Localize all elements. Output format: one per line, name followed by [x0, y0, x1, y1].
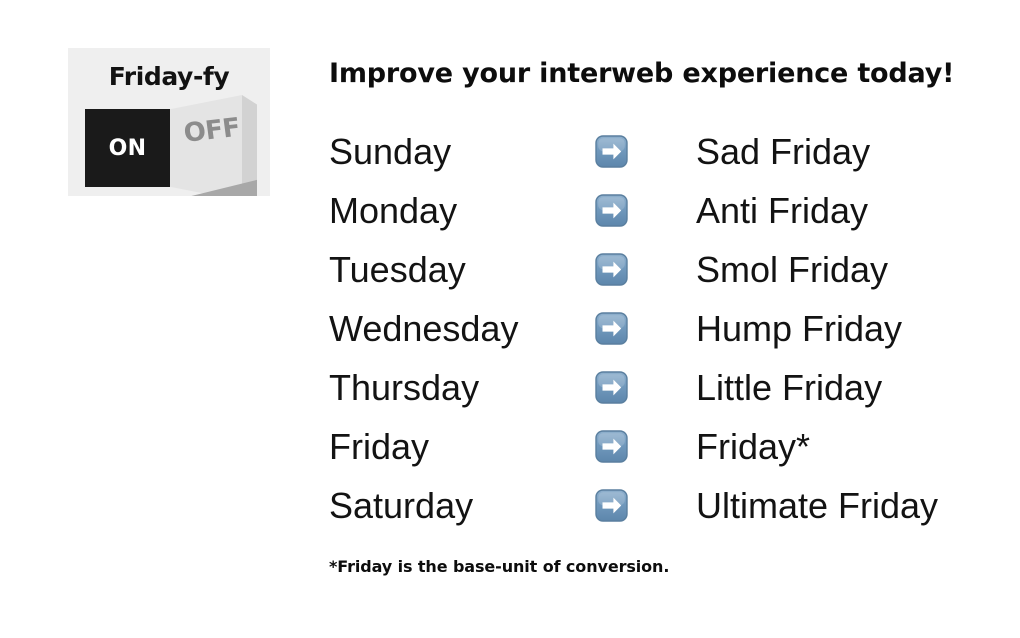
- page-headline: Improve your interweb experience today!: [329, 58, 954, 89]
- conversion-result-label: Sad Friday: [696, 122, 870, 181]
- right-arrow-icon: [595, 253, 628, 286]
- conversion-day-label: Monday: [329, 181, 457, 240]
- conversion-result-label: Anti Friday: [696, 181, 868, 240]
- right-arrow-icon: [595, 135, 628, 168]
- toggle-widget-title: Friday-fy: [68, 62, 270, 91]
- conversion-day-label: Thursday: [329, 358, 479, 417]
- conversion-day-label: Tuesday: [329, 240, 466, 299]
- right-arrow-icon: [595, 312, 628, 345]
- conversion-result-label: Hump Friday: [696, 299, 902, 358]
- conversion-day-label: Sunday: [329, 122, 451, 181]
- table-row: WednesdayHump Friday: [329, 299, 969, 358]
- footnote-text: *Friday is the base-unit of conversion.: [329, 557, 669, 576]
- table-row: ThursdayLittle Friday: [329, 358, 969, 417]
- table-row: SaturdayUltimate Friday: [329, 476, 969, 535]
- right-arrow-icon: [595, 430, 628, 463]
- table-row: TuesdaySmol Friday: [329, 240, 969, 299]
- switch-on-label: ON: [85, 109, 170, 187]
- conversion-result-label: Friday*: [696, 417, 810, 476]
- on-off-rocker-switch[interactable]: OFF ON: [85, 109, 257, 187]
- conversion-day-label: Friday: [329, 417, 429, 476]
- right-arrow-icon: [595, 371, 628, 404]
- right-arrow-icon: [595, 194, 628, 227]
- friday-fy-toggle-widget[interactable]: Friday-fy OFF ON: [68, 48, 270, 196]
- table-row: SundaySad Friday: [329, 122, 969, 181]
- table-row: FridayFriday*: [329, 417, 969, 476]
- conversion-result-label: Smol Friday: [696, 240, 888, 299]
- conversion-result-label: Little Friday: [696, 358, 882, 417]
- conversion-day-label: Wednesday: [329, 299, 518, 358]
- switch-off-label: OFF: [182, 113, 242, 149]
- table-row: MondayAnti Friday: [329, 181, 969, 240]
- conversion-result-label: Ultimate Friday: [696, 476, 938, 535]
- day-conversion-table: SundaySad FridayMondayAnti FridayTuesday…: [329, 122, 969, 535]
- right-arrow-icon: [595, 489, 628, 522]
- conversion-day-label: Saturday: [329, 476, 473, 535]
